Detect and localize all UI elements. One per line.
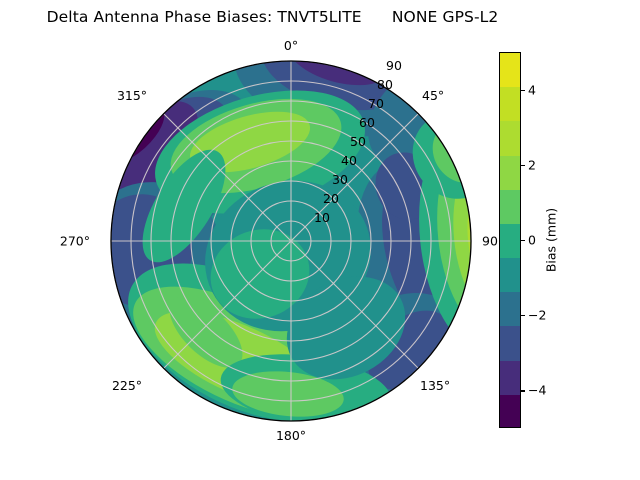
- colorbar-ticklabel: 2: [528, 157, 536, 172]
- radial-label-60: 60: [359, 115, 375, 130]
- colorbar-band: [500, 87, 520, 121]
- colorbar-axis-label: Bias (mm): [544, 208, 559, 272]
- colorbar-band: [500, 395, 520, 428]
- radial-label-50: 50: [350, 134, 366, 149]
- azimuth-label-315: 315°: [117, 88, 147, 103]
- colorbar-ticklabel: −4: [528, 383, 546, 398]
- azimuth-label-45: 45°: [422, 88, 444, 103]
- colorbar-band: [500, 156, 520, 190]
- azimuth-label-180: 180°: [276, 428, 306, 443]
- colorbar-band: [500, 190, 520, 224]
- colorbar-tick: [521, 90, 525, 91]
- azimuth-label-0: 0°: [284, 38, 298, 53]
- radial-label-90: 90: [386, 58, 402, 73]
- azimuth-label-135: 135°: [420, 378, 450, 393]
- polar-contour-plot: [110, 60, 472, 422]
- radial-label-30: 30: [332, 172, 348, 187]
- radial-label-80: 80: [377, 77, 393, 92]
- radial-label-70: 70: [368, 96, 384, 111]
- colorbar-band: [500, 121, 520, 155]
- colorbar-tick: [521, 165, 525, 166]
- colorbar-band: [500, 361, 520, 395]
- colorbar-band: [500, 224, 520, 258]
- polar-axes[interactable]: 0° 45° 90° 135° 180° 225° 270° 315° 10 2…: [110, 60, 472, 422]
- figure-canvas: Delta Antenna Phase Biases: TNVT5LITE NO…: [0, 0, 640, 480]
- colorbar-tick: [521, 315, 525, 316]
- colorbar-ticklabel: 0: [528, 233, 536, 248]
- colorbar-gradient: [499, 52, 521, 428]
- radial-label-20: 20: [323, 191, 339, 206]
- colorbar-band: [500, 292, 520, 326]
- colorbar-tick: [521, 390, 525, 391]
- colorbar-ticklabel: 4: [528, 82, 536, 97]
- polar-grid-spokes: [111, 61, 471, 421]
- colorbar-band: [500, 53, 520, 87]
- chart-title: Delta Antenna Phase Biases: TNVT5LITE NO…: [0, 8, 545, 26]
- colorbar-tick: [521, 240, 525, 241]
- azimuth-label-270: 270°: [60, 234, 90, 249]
- colorbar-ticklabel: −2: [528, 308, 546, 323]
- radial-label-10: 10: [314, 210, 330, 225]
- radial-label-40: 40: [341, 153, 357, 168]
- colorbar-band: [500, 258, 520, 292]
- colorbar[interactable]: 420−2−4: [499, 52, 521, 428]
- colorbar-band: [500, 326, 520, 360]
- azimuth-label-225: 225°: [112, 378, 142, 393]
